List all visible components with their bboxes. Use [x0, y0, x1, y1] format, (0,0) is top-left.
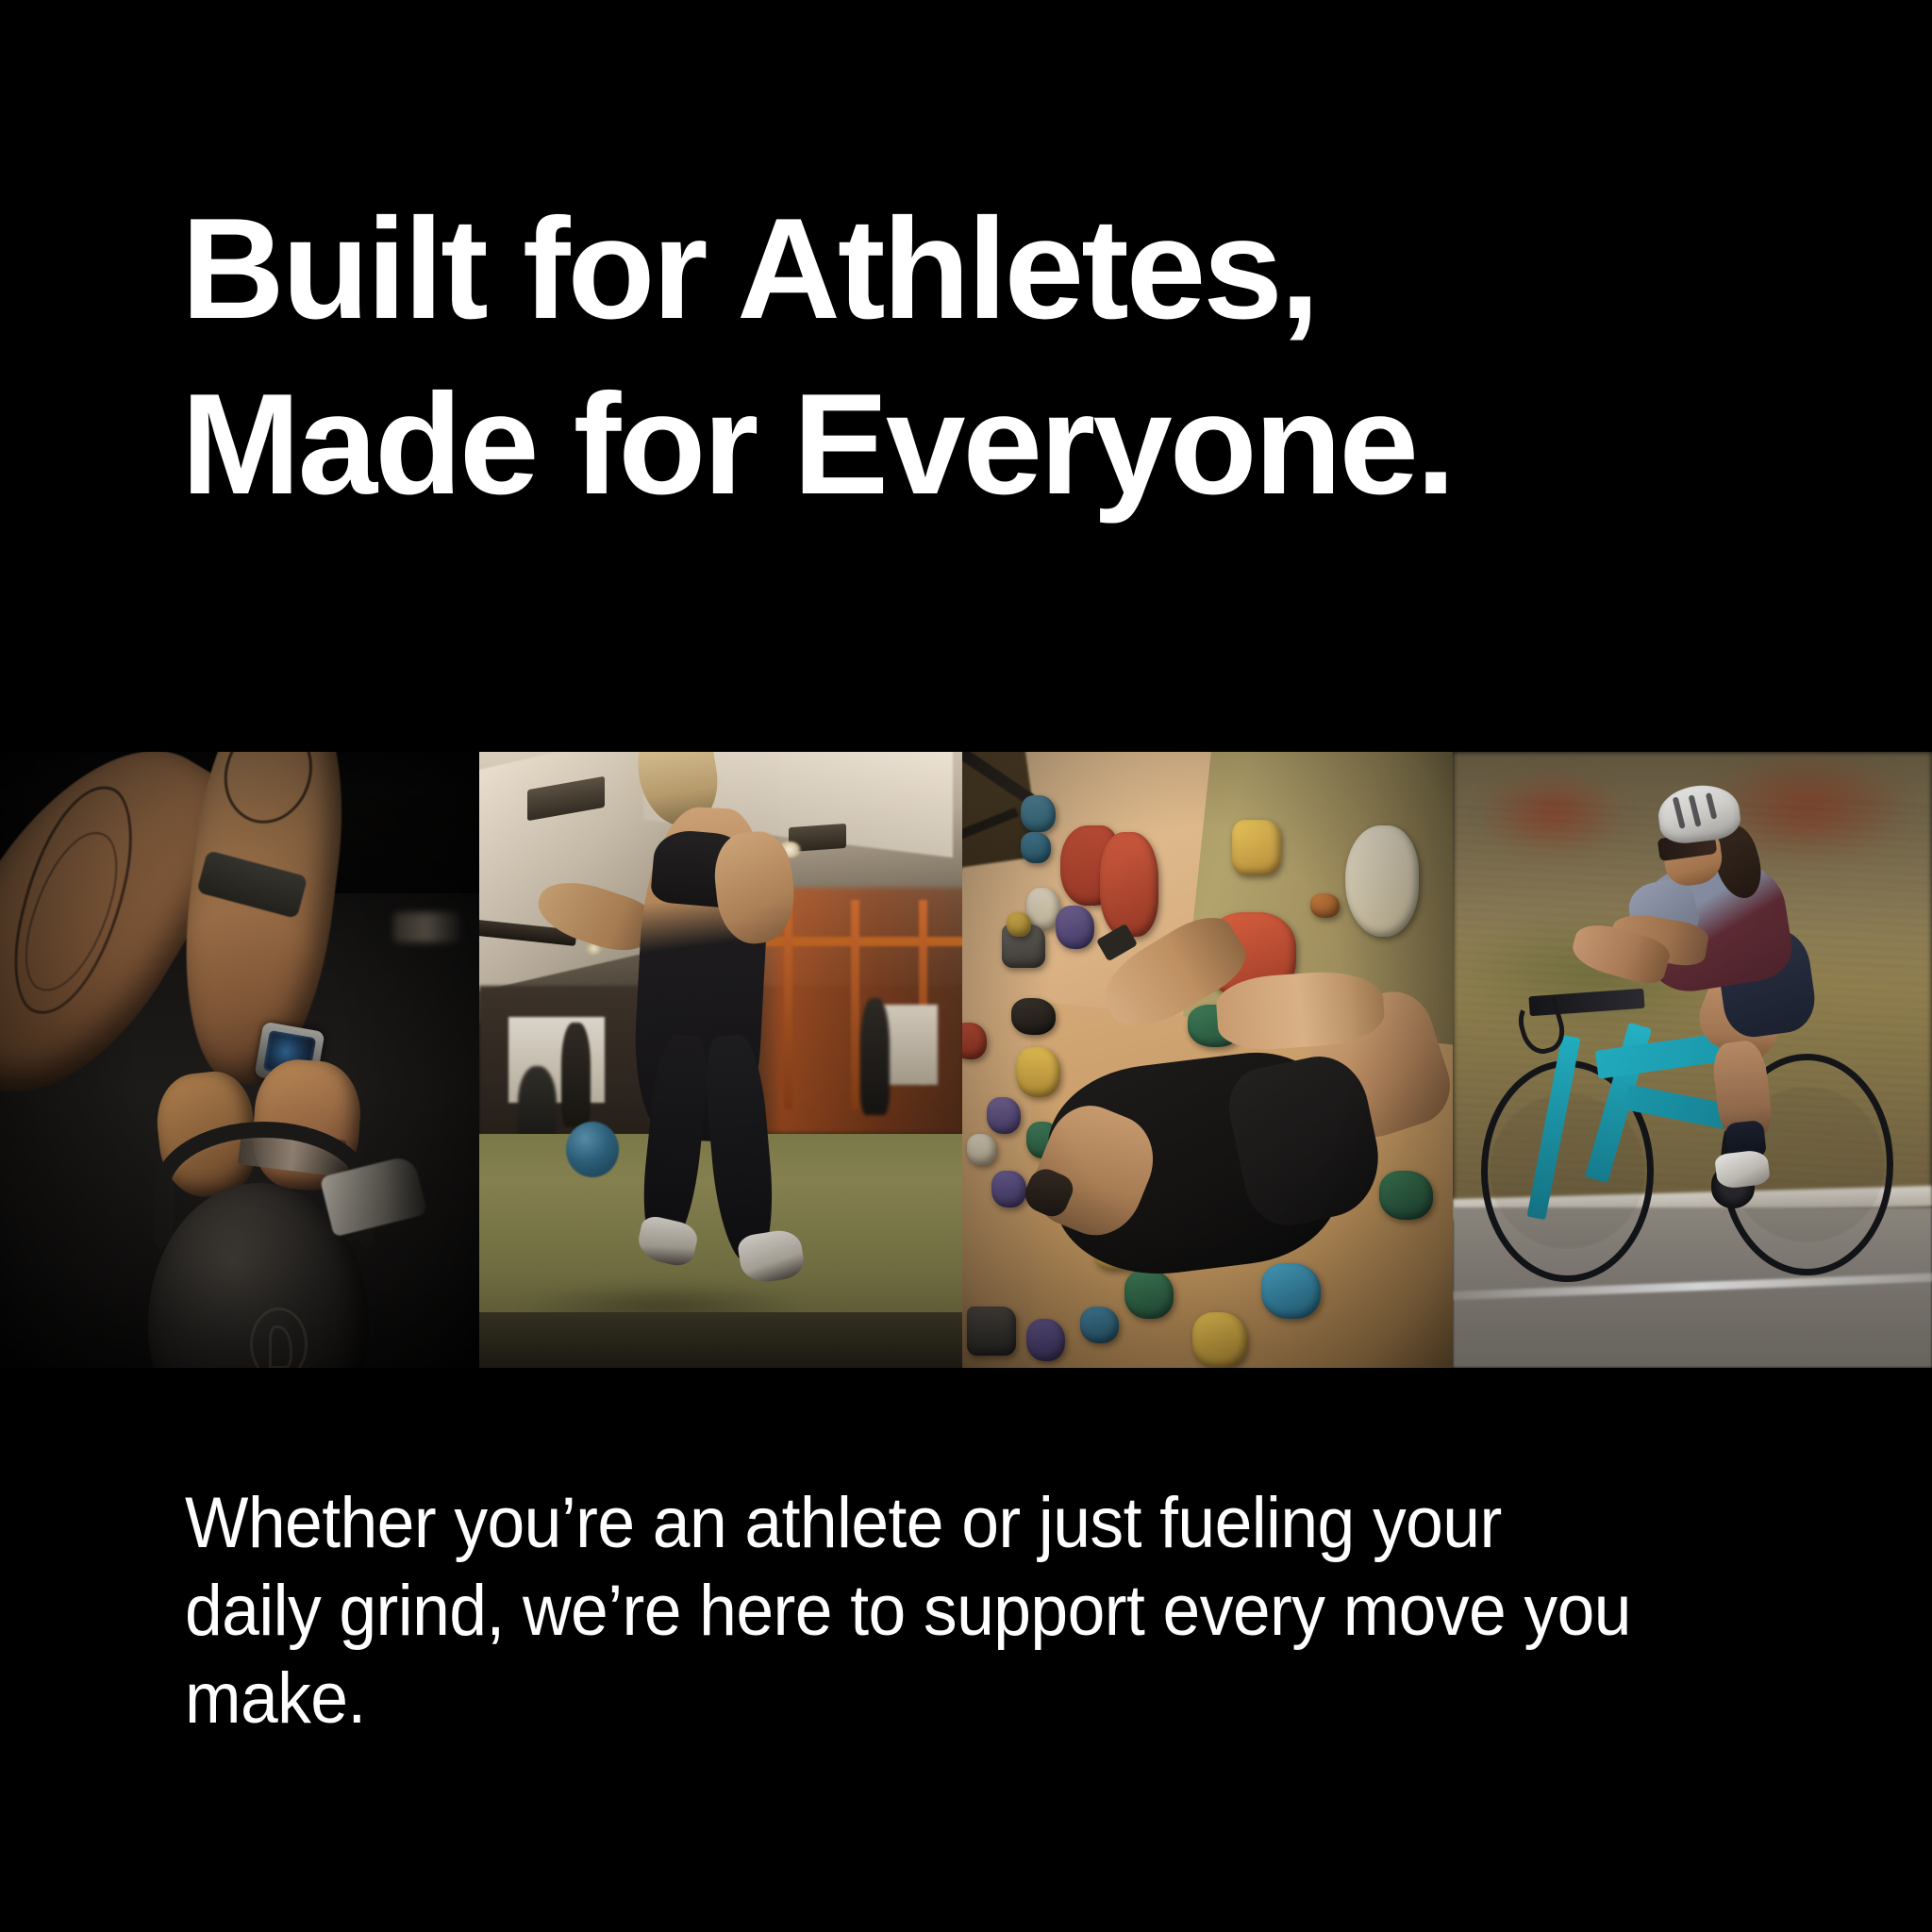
body-copy: Whether you’re an athlete or just fuelin… [185, 1479, 1710, 1742]
panel-vignette [962, 752, 1453, 1368]
kettlebell-scene [0, 752, 479, 1368]
panel-color-grade [479, 752, 962, 1368]
headline-line-1: Built for Athletes, [181, 181, 1785, 357]
body-copy-line-3: make. [185, 1655, 1710, 1742]
headline-line-2: Made for Everyone. [181, 357, 1785, 532]
marketing-hero-page: Built for Athletes, Made for Everyone. [0, 0, 1932, 1932]
panel-kettlebell [0, 752, 479, 1368]
panel-vignette [0, 752, 479, 1368]
body-copy-line-2: daily grind, we’re here to support every… [185, 1567, 1710, 1655]
panel-color-grade [1453, 752, 1932, 1368]
page-headline: Built for Athletes, Made for Everyone. [181, 181, 1785, 532]
body-copy-line-1: Whether you’re an athlete or just fuelin… [185, 1479, 1710, 1567]
panel-jump-training [479, 752, 962, 1368]
cyclist-scene [1453, 752, 1932, 1368]
panel-bouldering [962, 752, 1453, 1368]
image-strip [0, 752, 1932, 1368]
bouldering-scene [962, 752, 1453, 1368]
jump-training-scene [479, 752, 962, 1368]
panel-cyclist [1453, 752, 1932, 1368]
